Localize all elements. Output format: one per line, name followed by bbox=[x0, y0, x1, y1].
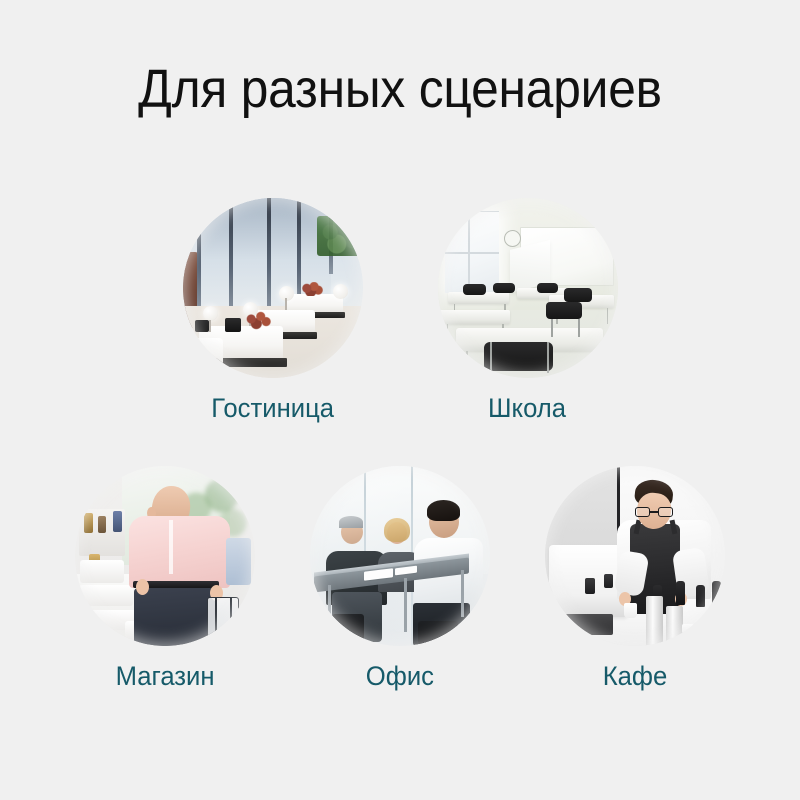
classroom-photo[interactable] bbox=[438, 198, 618, 378]
scenario-label-store: Магазин bbox=[116, 660, 215, 692]
scenario-item-office[interactable]: Офис bbox=[300, 466, 500, 692]
scenario-item-cafe[interactable]: Кафе bbox=[535, 466, 735, 692]
cafe-barista-illustration bbox=[545, 466, 725, 646]
classroom-illustration bbox=[438, 198, 618, 378]
scenario-item-school[interactable]: Школа bbox=[428, 198, 628, 424]
scenario-label-cafe: Кафе bbox=[603, 660, 668, 692]
retail-store-illustration bbox=[75, 466, 255, 646]
office-meeting-illustration bbox=[310, 466, 490, 646]
page-title: Для разных сценариев bbox=[32, 58, 768, 120]
scenarios-page: Для разных сценариев bbox=[0, 0, 800, 800]
scenario-row-top: Гостиница bbox=[0, 198, 800, 424]
scenario-row-bottom: Магазин bbox=[0, 466, 800, 692]
hotel-lobby-illustration bbox=[183, 198, 363, 378]
scenario-label-school: Школа bbox=[489, 392, 567, 424]
scenario-label-hotel: Гостиница bbox=[211, 392, 334, 424]
cafe-barista-photo[interactable] bbox=[545, 466, 725, 646]
scenario-item-store[interactable]: Магазин bbox=[65, 466, 265, 692]
scenario-label-office: Офис bbox=[366, 660, 434, 692]
retail-store-photo[interactable] bbox=[75, 466, 255, 646]
hotel-lobby-photo[interactable] bbox=[183, 198, 363, 378]
office-meeting-photo[interactable] bbox=[310, 466, 490, 646]
scenario-item-hotel[interactable]: Гостиница bbox=[173, 198, 373, 424]
